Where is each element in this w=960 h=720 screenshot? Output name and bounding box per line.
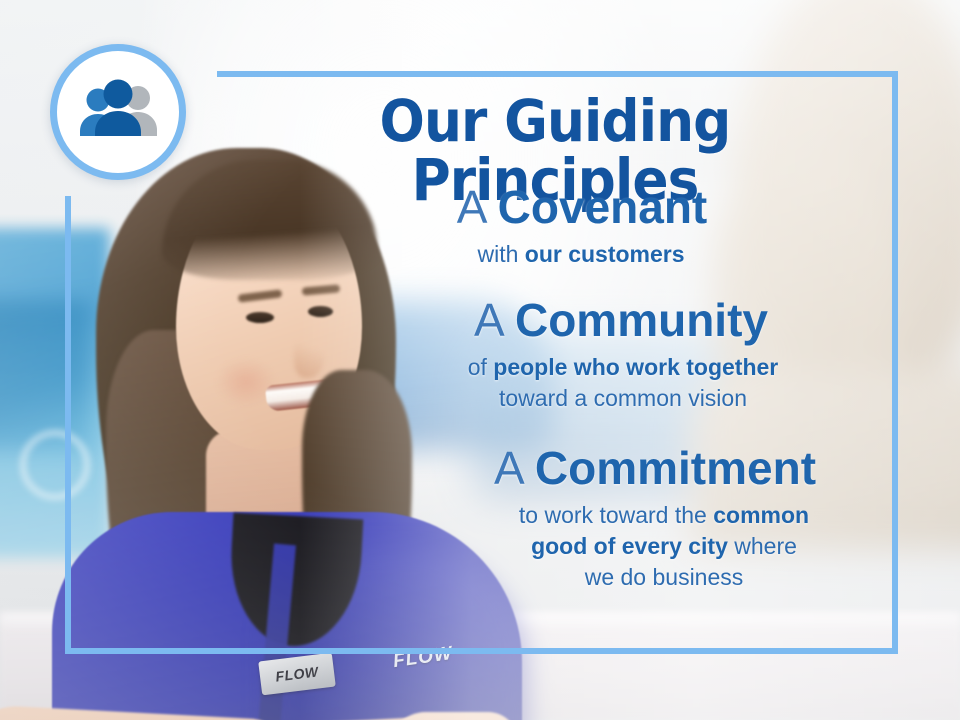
guiding-principles-graphic: FLOW FLOW Our Guiding Principles — [0, 0, 960, 720]
name-badge-text: FLOW — [275, 664, 320, 683]
blurred-banner-shadow — [0, 300, 90, 450]
principle-community: A Community of people who work togethert… — [300, 295, 880, 413]
principle-article: A — [474, 294, 515, 346]
principle-article: A — [494, 442, 535, 494]
principle-subtitle-segment: to work toward the — [519, 502, 713, 528]
principle-subtitle-segment: toward a common vision — [499, 385, 747, 411]
principle-keyword: Covenant — [498, 181, 708, 233]
principle-subtitle-segment: good of every city — [531, 533, 728, 559]
frame-border-right — [892, 71, 898, 654]
principle-covenant-title: A Covenant — [300, 182, 880, 234]
blurred-brand-roundel-icon — [20, 430, 90, 500]
frame-border-left — [65, 196, 71, 654]
principle-article: A — [457, 181, 498, 233]
group-of-people-icon — [72, 79, 164, 145]
principles-list: A Covenant with our customers A Communit… — [300, 182, 880, 598]
principle-keyword: Commitment — [535, 442, 816, 494]
principle-subtitle-segment: we do business — [585, 564, 744, 590]
principle-keyword: Community — [515, 294, 768, 346]
principle-covenant: A Covenant with our customers — [300, 182, 880, 269]
principle-subtitle-segment: where — [728, 533, 797, 559]
employee-eye-left — [246, 312, 274, 323]
principle-community-title: A Community — [300, 295, 880, 347]
frame-border-top — [217, 71, 898, 77]
principle-commitment-title: A Commitment — [300, 443, 880, 495]
principle-community-subtitle: of people who work togethertoward a comm… — [300, 352, 880, 414]
people-badge — [50, 44, 186, 180]
frame-border-bottom — [65, 648, 898, 654]
principle-subtitle-segment: with — [477, 241, 524, 267]
principle-commitment: A Commitment to work toward the commongo… — [300, 443, 880, 592]
principle-covenant-subtitle: with our customers — [300, 239, 880, 270]
principle-subtitle-segment: people who work together — [493, 354, 778, 380]
principle-subtitle-segment: our customers — [525, 241, 685, 267]
principle-commitment-subtitle: to work toward the commongood of every c… — [300, 500, 880, 592]
principle-subtitle-segment: of — [468, 354, 494, 380]
principle-subtitle-segment: common — [713, 502, 809, 528]
